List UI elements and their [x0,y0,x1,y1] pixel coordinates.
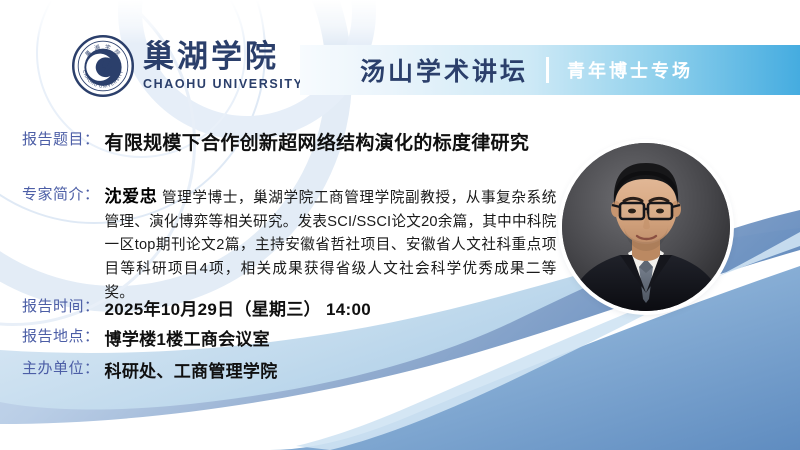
university-name-cn: 巢湖学院 [143,42,304,73]
report-time-row: 报告时间： 2025年10月29日（星期三） 14:00 [22,295,371,320]
report-location-value: 博学楼1楼工商会议室 [105,325,270,350]
report-title-label: 报告题目： [22,128,100,149]
organizer-label: 主办单位： [22,357,100,378]
speaker-name: 沈爱忠 [105,187,158,206]
forum-banner: 汤山学术讲坛 青年博士专场 [300,45,800,95]
university-name-en: CHAOHU UNIVERSITY [143,78,304,91]
forum-subtitle: 青年博士专场 [567,57,693,83]
speaker-bio-row: 专家简介： 沈爱忠 管理学博士，巢湖学院工商管理学院副教授，从事复杂系统管理、演… [22,183,562,305]
report-title-value: 有限规模下合作创新超网络结构演化的标度律研究 [105,128,530,155]
report-time-value: 2025年10月29日（星期三） 14:00 [105,295,371,320]
report-time-label: 报告时间： [22,295,100,316]
organizer-value: 科研处、工商管理学院 [105,357,278,382]
organizer-row: 主办单位： 科研处、工商管理学院 [22,357,278,382]
university-name-block: 巢湖学院 CHAOHU UNIVERSITY [143,42,304,91]
speaker-portrait [562,143,730,311]
report-location-row: 报告地点： 博学楼1楼工商会议室 [22,325,270,350]
speaker-bio-body: 沈爱忠 管理学博士，巢湖学院工商管理学院副教授，从事复杂系统管理、演化博弈等相关… [105,183,557,305]
chaohu-university-seal-icon: 巢 湖 学 院 CHAOHU UNIVERSITY [72,35,134,97]
speaker-bio-text: 管理学博士，巢湖学院工商管理学院副教授，从事复杂系统管理、演化博弈等相关研究。发… [105,190,557,301]
report-title-row: 报告题目： 有限规模下合作创新超网络结构演化的标度律研究 [22,128,529,155]
report-location-label: 报告地点： [22,325,100,346]
forum-title: 汤山学术讲坛 [360,52,528,88]
banner-divider [546,57,549,83]
lecture-poster: 巢 湖 学 院 CHAOHU UNIVERSITY 巢湖学院 CHAOHU UN… [0,0,800,450]
university-brand: 巢 湖 学 院 CHAOHU UNIVERSITY 巢湖学院 CHAOHU UN… [72,35,304,97]
speaker-bio-label: 专家简介： [22,183,100,204]
